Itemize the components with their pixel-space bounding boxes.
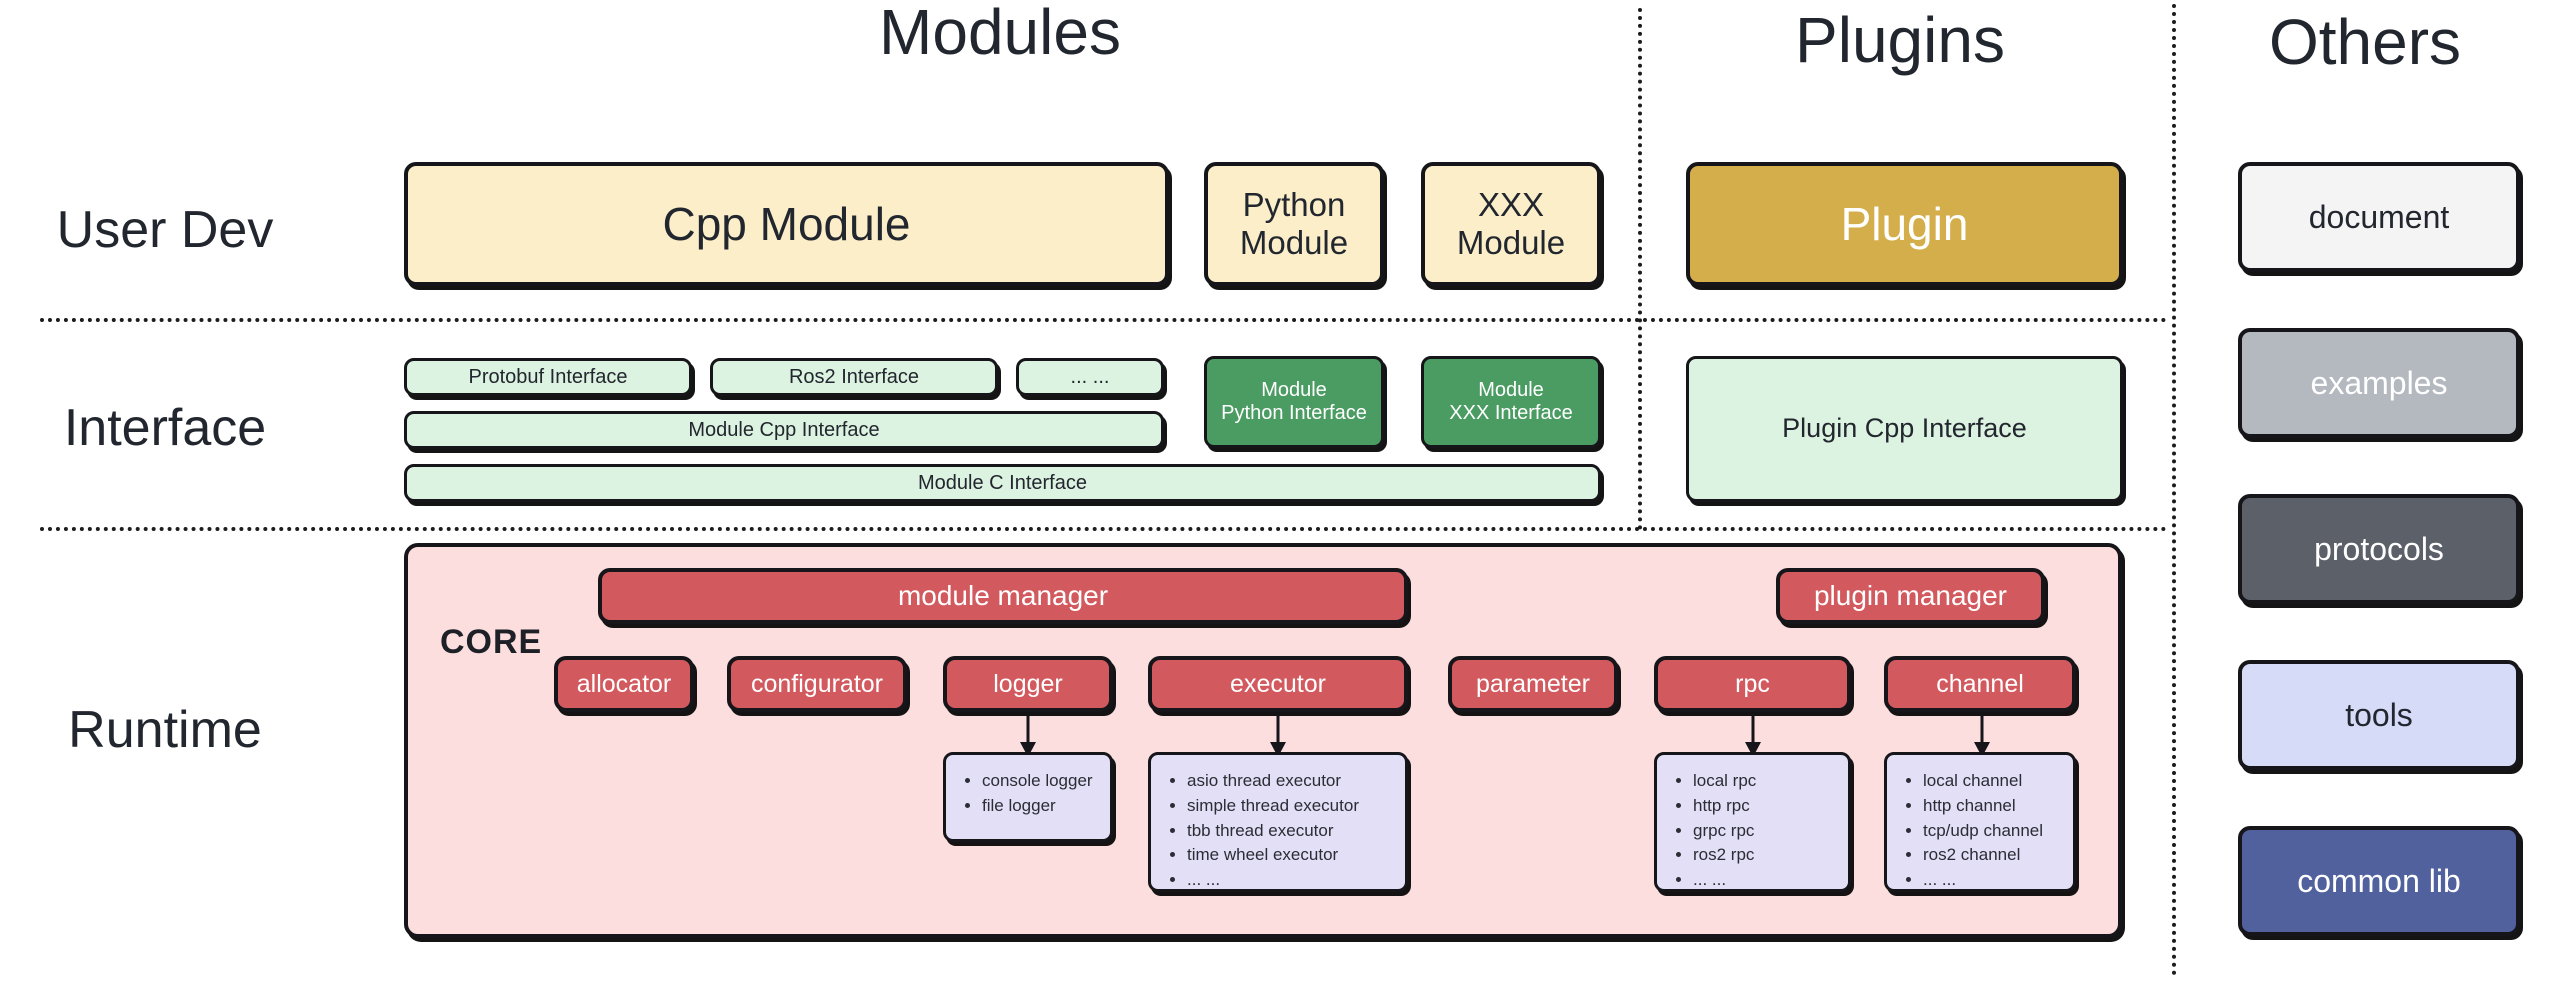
box-module-python-interface[interactable]: Module Python Interface bbox=[1204, 356, 1384, 448]
box-component-rpc-label: rpc bbox=[1735, 670, 1770, 699]
box-others-protocols[interactable]: protocols bbox=[2238, 494, 2520, 604]
box-module-cpp-interface[interactable]: Module Cpp Interface bbox=[404, 411, 1164, 449]
list-item: http channel bbox=[1903, 794, 2063, 819]
list-item: http rpc bbox=[1673, 794, 1838, 819]
box-protobuf-interface[interactable]: Protobuf Interface bbox=[404, 358, 692, 396]
box-plugin-label: Plugin bbox=[1841, 198, 1969, 251]
box-module-xxx-interface[interactable]: Module XXX Interface bbox=[1421, 356, 1601, 448]
box-module-c-interface-label: Module C Interface bbox=[918, 472, 1087, 495]
box-module-python-interface-label-line2: Python Interface bbox=[1221, 402, 1367, 425]
architecture-diagram: Modules Plugins Others User Dev Interfac… bbox=[0, 0, 2560, 984]
box-python-module-label-line1: Python bbox=[1243, 186, 1346, 224]
box-component-channel[interactable]: channel bbox=[1884, 656, 2076, 712]
detail-list-channel: local channel http channel tcp/udp chann… bbox=[1903, 769, 2063, 892]
box-module-c-interface[interactable]: Module C Interface bbox=[404, 464, 1601, 502]
list-item: time wheel executor bbox=[1167, 843, 1395, 868]
box-module-manager-label: module manager bbox=[898, 580, 1108, 612]
box-cpp-module-label: Cpp Module bbox=[662, 198, 910, 251]
list-item: tbb thread executor bbox=[1167, 819, 1395, 844]
box-other-interface-ellipsis[interactable]: ... ... bbox=[1016, 358, 1164, 396]
column-title-others: Others bbox=[2200, 10, 2530, 74]
box-ros2-interface-label: Ros2 Interface bbox=[789, 366, 919, 389]
box-ros2-interface[interactable]: Ros2 Interface bbox=[710, 358, 998, 396]
box-component-configurator[interactable]: configurator bbox=[727, 656, 907, 712]
box-others-common-lib[interactable]: common lib bbox=[2238, 826, 2520, 936]
row-label-runtime: Runtime bbox=[40, 700, 290, 760]
detail-box-rpc: local rpc http rpc grpc rpc ros2 rpc ...… bbox=[1654, 752, 1851, 892]
detail-box-executor: asio thread executor simple thread execu… bbox=[1148, 752, 1408, 892]
box-component-executor-label: executor bbox=[1230, 670, 1326, 699]
list-item: simple thread executor bbox=[1167, 794, 1395, 819]
box-others-common-lib-label: common lib bbox=[2297, 863, 2461, 900]
list-item: local channel bbox=[1903, 769, 2063, 794]
box-component-rpc[interactable]: rpc bbox=[1654, 656, 1851, 712]
list-item: ros2 rpc bbox=[1673, 843, 1838, 868]
list-item: grpc rpc bbox=[1673, 819, 1838, 844]
list-item: tcp/udp channel bbox=[1903, 819, 2063, 844]
box-plugin-manager-label: plugin manager bbox=[1814, 580, 2007, 612]
detail-list-logger: console logger file logger bbox=[962, 769, 1100, 819]
box-xxx-module-label-line1: XXX bbox=[1478, 186, 1544, 224]
box-plugin-cpp-interface[interactable]: Plugin Cpp Interface bbox=[1686, 356, 2123, 502]
box-xxx-module-label-line2: Module bbox=[1457, 224, 1565, 262]
box-module-cpp-interface-label: Module Cpp Interface bbox=[688, 419, 879, 442]
box-component-logger-label: logger bbox=[993, 670, 1063, 699]
separator-plugins-others bbox=[2172, 4, 2176, 976]
box-component-channel-label: channel bbox=[1936, 670, 2024, 699]
box-other-interface-ellipsis-label: ... ... bbox=[1071, 366, 1110, 389]
list-item: console logger bbox=[962, 769, 1100, 794]
list-item: local rpc bbox=[1673, 769, 1838, 794]
list-item: asio thread executor bbox=[1167, 769, 1395, 794]
column-title-modules: Modules bbox=[740, 0, 1260, 64]
box-plugin-manager[interactable]: plugin manager bbox=[1776, 568, 2045, 624]
separator-userdev-interface bbox=[40, 318, 2168, 322]
box-module-xxx-interface-label-line1: Module bbox=[1478, 379, 1544, 402]
list-item: ... ... bbox=[1673, 868, 1838, 892]
box-others-tools[interactable]: tools bbox=[2238, 660, 2520, 770]
row-label-interface: Interface bbox=[40, 398, 290, 458]
list-item: ... ... bbox=[1903, 868, 2063, 892]
detail-list-rpc: local rpc http rpc grpc rpc ros2 rpc ...… bbox=[1673, 769, 1838, 892]
list-item: ... ... bbox=[1167, 868, 1395, 892]
box-xxx-module[interactable]: XXX Module bbox=[1421, 162, 1601, 286]
box-protobuf-interface-label: Protobuf Interface bbox=[469, 366, 628, 389]
detail-box-channel: local channel http channel tcp/udp chann… bbox=[1884, 752, 2076, 892]
list-item: ros2 channel bbox=[1903, 843, 2063, 868]
list-item: file logger bbox=[962, 794, 1100, 819]
box-cpp-module[interactable]: Cpp Module bbox=[404, 162, 1169, 286]
box-others-document[interactable]: document bbox=[2238, 162, 2520, 272]
box-component-executor[interactable]: executor bbox=[1148, 656, 1408, 712]
box-python-module[interactable]: Python Module bbox=[1204, 162, 1384, 286]
box-module-xxx-interface-label-line2: XXX Interface bbox=[1449, 402, 1572, 425]
box-component-allocator[interactable]: allocator bbox=[554, 656, 694, 712]
box-others-tools-label: tools bbox=[2345, 697, 2413, 734]
box-others-examples-label: examples bbox=[2311, 365, 2448, 402]
box-others-document-label: document bbox=[2309, 199, 2450, 236]
box-component-parameter-label: parameter bbox=[1476, 670, 1590, 699]
box-component-logger[interactable]: logger bbox=[943, 656, 1113, 712]
box-others-protocols-label: protocols bbox=[2314, 531, 2444, 568]
column-title-plugins: Plugins bbox=[1680, 8, 2120, 72]
box-component-configurator-label: configurator bbox=[751, 670, 883, 699]
box-plugin[interactable]: Plugin bbox=[1686, 162, 2123, 286]
detail-box-logger: console logger file logger bbox=[943, 752, 1113, 842]
box-module-manager[interactable]: module manager bbox=[598, 568, 1408, 624]
box-component-parameter[interactable]: parameter bbox=[1448, 656, 1618, 712]
box-module-python-interface-label-line1: Module bbox=[1261, 379, 1327, 402]
box-plugin-cpp-interface-label: Plugin Cpp Interface bbox=[1782, 413, 2027, 444]
box-python-module-label-line2: Module bbox=[1240, 224, 1348, 262]
box-others-examples[interactable]: examples bbox=[2238, 328, 2520, 438]
detail-list-executor: asio thread executor simple thread execu… bbox=[1167, 769, 1395, 892]
core-label: CORE bbox=[440, 623, 542, 662]
separator-modules-plugins bbox=[1638, 8, 1642, 530]
separator-interface-runtime bbox=[40, 527, 2168, 531]
box-component-allocator-label: allocator bbox=[577, 670, 672, 699]
row-label-user-dev: User Dev bbox=[40, 200, 290, 260]
